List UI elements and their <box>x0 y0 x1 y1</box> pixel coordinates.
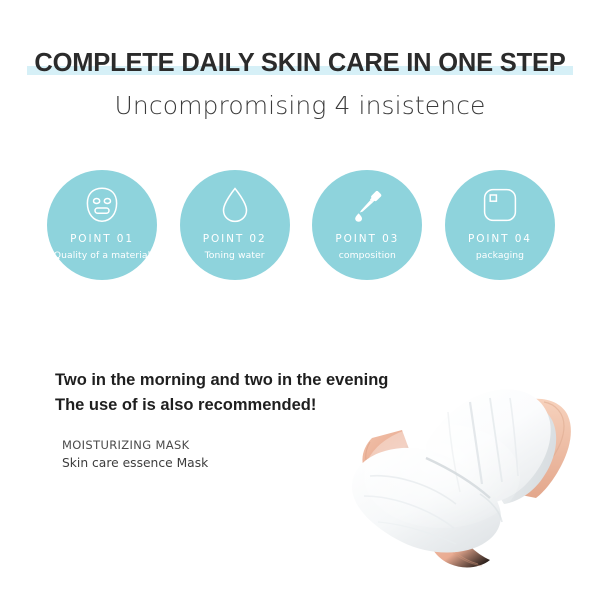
point-desc: Quality of a material <box>54 250 151 261</box>
dropper-pipette-icon <box>348 186 386 224</box>
point-circle-03[interactable]: POINT 03 composition <box>312 170 422 280</box>
title-wrapper: COMPLETE DAILY SKIN CARE IN ONE STEP <box>32 48 567 78</box>
product-name: MOISTURIZING MASK <box>62 436 362 454</box>
face-mask-icon <box>84 186 120 224</box>
point-desc: packaging <box>476 250 524 261</box>
point-desc: Toning water <box>205 250 265 261</box>
package-box-icon <box>482 186 518 224</box>
product-text-block: MOISTURIZING MASK Skin care essence Mask <box>62 436 362 473</box>
point-title: POINT 01 <box>70 233 134 245</box>
point-circle-04[interactable]: POINT 04 packaging <box>445 170 555 280</box>
page-subtitle: Uncompromising 4 insistence <box>0 91 600 121</box>
product-subtitle: Skin care essence Mask <box>62 454 362 473</box>
point-circle-01[interactable]: POINT 01 Quality of a material <box>47 170 157 280</box>
page-title: COMPLETE DAILY SKIN CARE IN ONE STEP <box>34 48 565 78</box>
header-block: COMPLETE DAILY SKIN CARE IN ONE STEP Unc… <box>0 48 600 121</box>
point-title: POINT 03 <box>335 233 399 245</box>
point-desc: composition <box>339 250 396 261</box>
water-drop-icon <box>220 186 250 224</box>
point-title: POINT 02 <box>203 233 267 245</box>
product-photo <box>330 372 600 600</box>
point-title: POINT 04 <box>468 233 532 245</box>
point-circle-02[interactable]: POINT 02 Toning water <box>180 170 290 280</box>
points-row: POINT 01 Quality of a material POINT 02 … <box>47 170 555 282</box>
